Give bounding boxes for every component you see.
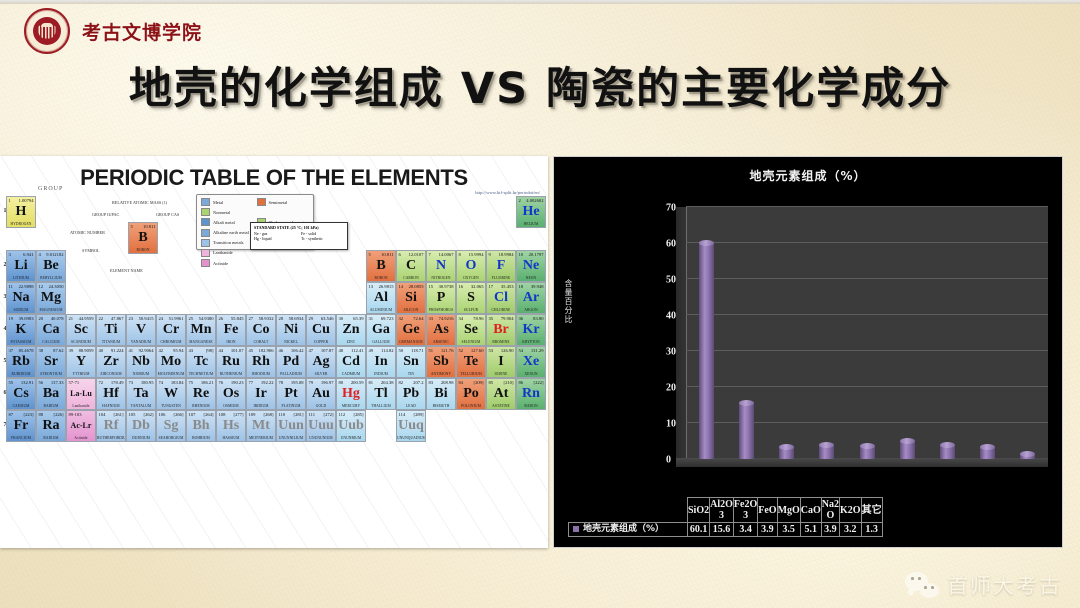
element-name: BISMUTH [427,404,455,408]
element-symbol: Rn [517,386,545,402]
bar-MgO [860,446,875,459]
element-mass: [266] [174,412,184,417]
element-symbol: Sg [157,418,185,434]
element-symbol: Ga [367,322,395,338]
table-value-Fe2O3: 3.4 [733,523,757,537]
element-symbol: Rh [247,354,275,370]
slide-header: 考古文博学院 [24,8,202,54]
element-name: OSMIUM [217,404,245,408]
element-symbol: F [487,258,515,274]
callout-relative-mass: RELATIVE ATOMIC MASS (1) [112,200,167,205]
element-symbol: Cr [157,322,185,338]
element-symbol: Co [247,322,275,338]
element-symbol: N [427,258,455,274]
element-symbol: Pb [397,386,425,402]
element-number: 27 [249,316,254,321]
element-cell-Mg: 1224.3050MgMAGNESIUM [36,282,66,314]
element-number: 87 [9,412,14,417]
element-cell-Ba: 56137.33BaBARIUM [36,378,66,410]
element-number: 37 [9,348,14,353]
element-mass: 132.91 [21,380,34,385]
element-symbol: Uuq [397,418,425,434]
standard-state-line: Hg - liquid [254,236,297,241]
element-symbol: Pt [277,386,305,402]
legend-swatch [201,198,210,206]
element-cell-P: 1530.9738PPHOSPHORUS [426,282,456,314]
element-number: 4 [39,252,41,257]
bar-SiO2 [699,243,714,459]
element-number: 88 [39,412,44,417]
element-name: GERMANIUM [397,340,425,344]
element-symbol: Sr [37,354,65,370]
element-mass: 208.98 [441,380,454,385]
callout-symbol: SYMBOL [82,248,99,253]
element-symbol: Sc [67,322,95,338]
element-mass: 28.0855 [409,284,424,289]
element-mass: 102.906 [259,348,274,353]
element-symbol: Tl [367,386,395,402]
legend-item-lanthanide: Lanthanide [201,249,255,257]
element-cell-Cu: 2963.546CuCOPPER [306,314,336,346]
element-number: 76 [219,380,224,385]
series-name: 地壳元素组成（%） [583,524,664,534]
element-number: 38 [39,348,44,353]
periodic-table-title: PERIODIC TABLE OF THE ELEMENTS [0,165,548,191]
y-tick-40: 40 [666,311,668,322]
element-symbol: La-Lu [67,386,95,402]
chart-title: 地壳元素组成（%） [554,167,1062,184]
element-symbol: Fr [7,418,35,434]
element-cell-Ra: 88[226]RaRADIUM [36,410,66,442]
element-number: 30 [339,316,344,321]
element-number: 111 [309,412,316,417]
element-name: SULFUR [457,308,485,312]
element-cell-Hf: 72178.49HfHAFNIUM [96,378,126,410]
legend-item-metal: Metal [201,198,254,206]
element-cell-La-Lu: 57-71La-LuLanthanide [66,378,96,410]
legend-item-semimetal: Semimetal [257,198,310,206]
element-name: BORON [367,276,395,280]
gridline-40 [686,314,1048,315]
element-number: 47 [309,348,314,353]
element-mass: 137.33 [51,380,64,385]
element-number: 9 [489,252,491,257]
element-number: 112 [339,412,346,417]
element-symbol: Ag [307,354,335,370]
element-mass: [262] [144,412,154,417]
legend-item-transition-metals: Transition metals [201,239,254,247]
element-name: CHLORINE [487,308,515,312]
element-number: 25 [189,316,194,321]
element-name: RHENIUM [187,404,215,408]
wechat-icon [905,572,939,598]
element-cell-I: 53126.90IIODINE [486,346,516,378]
element-name: NICKEL [277,340,305,344]
callout-element-name: ELEMENT NAME [110,268,143,273]
element-cell-Se: 3478.96SeSELENIUM [456,314,486,346]
element-symbol: Y [67,354,95,370]
legend-label: Nonmetal [213,210,230,215]
element-name: RUBIDIUM [7,372,35,376]
element-symbol: Db [127,418,155,434]
element-name: TUNGSTEN [157,404,185,408]
element-mass: 107.87 [321,348,334,353]
element-number: 83 [429,380,434,385]
element-cell-Uun: 110[281]UunUNUNNILIUM [276,410,306,442]
element-mass: 58.6934 [289,316,304,321]
element-symbol: Sn [397,354,425,370]
element-cell-Hs: 108[277]HsHASSIUM [216,410,246,442]
table-col-header-MgO: MgO [777,498,800,523]
element-mass: 1.00794 [19,198,34,203]
bar-FeO [819,445,834,459]
element-cell-B: 510.811BBORON [366,250,396,282]
element-mass: 50.9415 [139,316,154,321]
element-number: 48 [339,348,344,353]
gridline-20 [686,386,1048,387]
element-cell-Rh: 45102.906RhRHODIUM [246,346,276,378]
element-name: HYDROGEN [7,222,35,226]
element-cell-Be: 49.012182BeBERYLLIUM [36,250,66,282]
element-name: PHOSPHORUS [427,308,455,312]
element-symbol: Zn [337,322,365,338]
element-name: BROMINE [487,340,515,344]
element-mass: 95.94 [173,348,183,353]
element-mass: [209] [474,380,484,385]
table-corner-cell [569,498,688,523]
element-mass: 63.546 [321,316,334,321]
element-name: LITHIUM [7,276,35,280]
element-cell-Ge: 3272.64GeGERMANIUM [396,314,426,346]
legend-label: Alkali metal [213,220,235,225]
element-mass: 195.08 [291,380,304,385]
element-cell-Sc: 2144.9559ScSCANDIUM [66,314,96,346]
element-symbol: Ru [217,354,245,370]
element-mass: 79.904 [501,316,514,321]
element-number: 17 [489,284,494,289]
element-mass: 192.22 [261,380,274,385]
element-number: 32 [399,316,404,321]
element-mass: 91.224 [111,348,124,353]
element-symbol: Ne [517,258,545,274]
element-number: 28 [279,316,284,321]
element-cell-At: 85[210]AtASTATINE [486,378,516,410]
element-number: 81 [369,380,374,385]
element-number: 31 [369,316,374,321]
element-cell-Li: 36.941LiLITHIUM [6,250,36,282]
sample-mass: 10.811 [143,224,155,229]
element-name: BOHRIUM [187,436,215,440]
element-number: 106 [159,412,166,417]
element-symbol: At [487,386,515,402]
element-number: 49 [369,348,374,353]
element-number: 75 [189,380,194,385]
element-symbol: Uuu [307,418,335,434]
element-mass: 121.76 [441,348,454,353]
element-name: VANADIUM [127,340,155,344]
element-number: 78 [279,380,284,385]
bar-Fe2O3 [779,447,794,459]
element-name: ZIRCONIUM [97,372,125,376]
chart-plot-area: 010203040506070 [676,199,1048,489]
table-col-header-其它: 其它 [861,498,882,523]
element-symbol: Sb [427,354,455,370]
top-edge-strip [0,0,1080,4]
element-symbol: Br [487,322,515,338]
element-mass: 186.21 [201,380,214,385]
callout-group-iupac: GROUP IUPAC [92,212,119,217]
element-symbol: Te [457,354,485,370]
element-name: INDIUM [367,372,395,376]
element-name: SILICON [397,308,425,312]
element-name: COPPER [307,340,335,344]
element-name: UNUNUNIUM [307,436,335,440]
element-mass: 55.845 [231,316,244,321]
element-number: 3 [9,252,11,257]
element-number: 11 [9,284,13,289]
element-cell-Al: 1326.9815AlALUMINIUM [366,282,396,314]
element-mass: [281] [294,412,304,417]
element-name: ZINC [337,340,365,344]
gridline-60 [686,242,1048,243]
legend-swatch [201,259,210,267]
element-symbol: Zr [97,354,125,370]
element-name: MAGNESIUM [37,308,65,312]
element-cell-Nb: 4192.9064NbNIOBIUM [126,346,156,378]
element-cell-Bh: 107[264]BhBOHRIUM [186,410,216,442]
group-axis-label: GROUP [38,186,63,192]
element-number: 6 [399,252,401,257]
element-mass: 207.2 [413,380,423,385]
element-cell-Ne: 1020.1797NeNEON [516,250,546,282]
element-mass: 44.9559 [79,316,94,321]
element-cell-Rn: 86[222]RnRADON [516,378,546,410]
bar-其它 [1020,454,1035,459]
element-mass: 106.42 [291,348,304,353]
element-cell-Cl: 1735.453ClCHLORINE [486,282,516,314]
element-name: NIOBIUM [127,372,155,376]
element-name: IRIDIUM [247,404,275,408]
element-name: MOLYBDENUM [157,372,185,376]
element-mass: 35.453 [501,284,514,289]
element-mass: [223] [24,412,34,417]
element-number: 73 [129,380,134,385]
element-mass: 72.64 [413,316,423,321]
element-name: HAFNIUM [97,404,125,408]
element-number: 105 [129,412,136,417]
element-cell-Os: 76190.23OsOSMIUM [216,378,246,410]
element-name: MANGANESE [187,340,215,344]
element-mass: 183.84 [171,380,184,385]
element-name: HASSIUM [217,436,245,440]
element-mass: [98] [206,348,214,353]
element-symbol: Os [217,386,245,402]
element-name: XENON [517,372,545,376]
element-symbol: S [457,290,485,306]
element-mass: 10.811 [381,252,393,257]
element-symbol: V [127,322,155,338]
element-cell-Sb: 51121.76SbANTIMONY [426,346,456,378]
element-cell-Cr: 2451.9961CrCHROMIUM [156,314,186,346]
element-number: 51 [429,348,434,353]
element-cell-Ag: 47107.87AgSILVER [306,346,336,378]
legend-item-alkaline-earth-metal: Alkaline earth metal [201,229,254,237]
element-symbol: Ba [37,386,65,402]
sample-name: BORON [129,248,157,252]
element-name: ANTIMONY [427,372,455,376]
element-number: 84 [459,380,464,385]
element-mass: 101.07 [231,348,244,353]
element-cell-Ar: 1839.948ArARGON [516,282,546,314]
sample-symbol: B [129,230,157,246]
element-number: 82 [399,380,404,385]
element-symbol: Ir [247,386,275,402]
element-cell-Db: 105[262]DbDUBNIUM [126,410,156,442]
element-cell-Hg: 80200.59HgMERCURY [336,378,366,410]
element-number: 22 [99,316,104,321]
element-symbol: Nb [127,354,155,370]
table-col-header-Na2O: Na2O [821,498,839,523]
table-series-cell: 地壳元素组成（%） [569,523,688,537]
element-mass: 74.9216 [439,316,454,321]
legend-item-alkali-metal: Alkali metal [201,218,254,226]
element-name: DUBNIUM [127,436,155,440]
element-symbol: Ta [127,386,155,402]
element-mass: 87.62 [53,348,63,353]
element-mass: 204.38 [381,380,394,385]
element-name: YTTRIUM [67,372,95,376]
element-mass: 26.9815 [379,284,394,289]
element-number: 21 [69,316,74,321]
element-name: OXYGEN [457,276,485,280]
element-number: 45 [249,348,254,353]
school-name-label: 考古文博学院 [82,18,202,45]
element-number: 79 [309,380,314,385]
element-name: KRYPTON [517,340,545,344]
element-symbol: Pd [277,354,305,370]
element-symbol: Au [307,386,335,402]
element-name: POTASSIUM [7,340,35,344]
element-number: 10 [519,252,524,257]
element-symbol: Ni [277,322,305,338]
element-symbol: P [427,290,455,306]
table-col-header-Al2O3: Al2O3 [710,498,734,523]
element-number: 26 [219,316,224,321]
element-symbol: Rf [97,418,125,434]
element-mass: 69.723 [381,316,394,321]
table-value-Al2O3: 15.6 [710,523,734,537]
element-symbol: W [157,386,185,402]
chart-left-wall [676,207,686,459]
element-number: 72 [99,380,104,385]
element-name: SCANDIUM [67,340,95,344]
element-name: BARIUM [37,404,65,408]
element-mass: 88.9059 [79,348,94,353]
element-symbol: I [487,354,515,370]
table-value-row: 地壳元素组成（%）60.115.63.43.93.55.13.93.21.3 [569,523,883,537]
element-cell-N: 714.0067NNITROGEN [426,250,456,282]
element-number: 39 [69,348,74,353]
legend-swatch [201,218,210,226]
element-cell-Te: 52127.60TeTELLURIUM [456,346,486,378]
slide-canvas: 考古文博学院 地壳的化学组成 VS 陶瓷的主要化学成分 PERIODIC TAB… [0,0,1080,608]
element-name: RHODIUM [247,372,275,376]
element-symbol: C [397,258,425,274]
element-cell-Mt: 109[268]MtMEITNERIUM [246,410,276,442]
element-name: MERCURY [337,404,365,408]
element-name: HELIUM [517,222,545,226]
element-symbol: Uun [277,418,305,434]
element-mass: 32.065 [471,284,484,289]
element-mass: 85.4678 [19,348,34,353]
element-cell-Sn: 50118.71SnTIN [396,346,426,378]
element-symbol: Re [187,386,215,402]
element-name: SODIUM [7,308,35,312]
chart-floor [676,458,1048,467]
legend-label: Lanthanide [213,250,233,255]
element-mass: [285] [354,412,364,417]
element-cell-S: 1632.065SSULFUR [456,282,486,314]
element-number: 46 [279,348,284,353]
wechat-watermark: 首师大考古 [905,570,1062,600]
gridline-70 [686,206,1048,207]
table-value-其它: 1.3 [861,523,882,537]
element-cell-Co: 2758.9332CoCOBALT [246,314,276,346]
element-mass: [226] [54,412,64,417]
legend-label: Metal [213,200,223,205]
element-number: 77 [249,380,254,385]
table-value-SiO2: 60.1 [688,523,710,537]
element-symbol: Uub [337,418,365,434]
element-cell-Au: 79196.97AuGOLD [306,378,336,410]
table-col-header-K2O: K2O [840,498,862,523]
element-number: 107 [189,412,196,417]
element-mass: 131.29 [531,348,544,353]
element-symbol: K [7,322,35,338]
element-mass: 51.9961 [169,316,184,321]
gridline-50 [686,278,1048,279]
element-cell-Zr: 4091.224ZrZIRCONIUM [96,346,126,378]
bar-chart-panel: 地壳元素组成（%） 含量百分比 010203040506070 SiO2Al2O… [553,156,1063,548]
element-number: 43 [189,348,194,353]
element-cell-Br: 3579.904BrBROMINE [486,314,516,346]
table-value-Na2O: 3.9 [821,523,839,537]
element-number: 5 [369,252,371,257]
element-mass: 118.71 [411,348,423,353]
element-mass: 58.9332 [259,316,274,321]
element-cell-Ca: 2040.078CaCALCIUM [36,314,66,346]
element-symbol: As [427,322,455,338]
element-number: 42 [159,348,164,353]
y-tick-60: 60 [666,239,668,250]
element-number: 19 [9,316,14,321]
element-mass: 200.59 [351,380,364,385]
element-name: GOLD [307,404,335,408]
element-mass: [261] [114,412,124,417]
element-number: 15 [429,284,434,289]
element-cell-Sg: 106[266]SgSEABORGIUM [156,410,186,442]
element-name: IODINE [487,372,515,376]
element-symbol: Tc [187,354,215,370]
element-name: Actinide [67,436,95,440]
y-tick-50: 50 [666,275,668,286]
element-symbol: In [367,354,395,370]
element-cell-C: 612.0107CCARBON [396,250,426,282]
element-mass: 40.078 [51,316,64,321]
element-name: SILVER [307,372,335,376]
element-mass: 196.97 [321,380,334,385]
element-number: 16 [459,284,464,289]
